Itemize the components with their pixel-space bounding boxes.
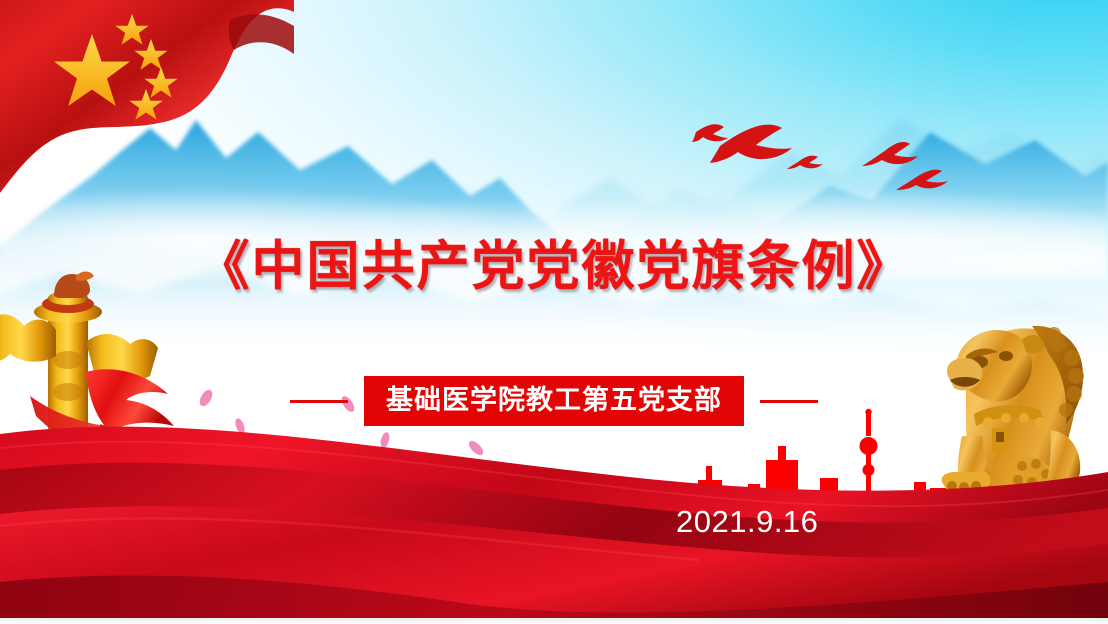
subtitle-banner: 基础医学院教工第五党支部 bbox=[364, 376, 744, 426]
subtitle-banner-group: 基础医学院教工第五党支部 bbox=[0, 376, 1108, 426]
date-label: 2021.9.16 bbox=[676, 504, 818, 540]
presentation-cover-slide: 《中国共产党党徽党旗条例》 基础医学院教工第五党支部 2021.9.16 bbox=[0, 0, 1108, 624]
chinese-national-flag bbox=[0, 0, 294, 207]
page-title: 《中国共产党党徽党旗条例》 bbox=[0, 224, 1108, 300]
bottom-edge-strip bbox=[0, 618, 1108, 624]
banner-rule-left bbox=[290, 400, 348, 403]
banner-rule-right bbox=[760, 400, 818, 403]
flying-birds bbox=[690, 118, 990, 213]
